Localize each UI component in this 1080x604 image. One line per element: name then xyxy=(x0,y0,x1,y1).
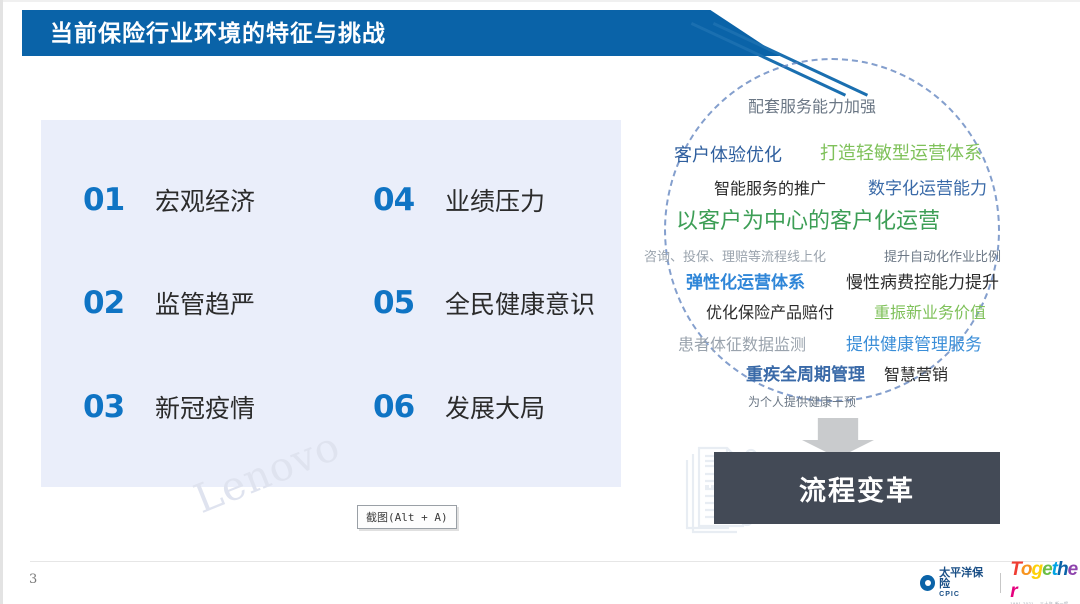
challenge-item-06: 06发展大局 xyxy=(331,355,621,459)
word-cloud-term: 提升自动化作业比例 xyxy=(884,250,1001,263)
slide-left-edge xyxy=(0,0,3,604)
challenge-label: 宏观经济 xyxy=(155,182,255,218)
slide-header: 当前保险行业环境的特征与挑战 xyxy=(0,10,1080,58)
challenge-number: 06 xyxy=(373,389,431,425)
challenge-item-04: 04业绩压力 xyxy=(331,148,621,252)
challenge-number: 04 xyxy=(373,182,431,218)
word-cloud-term: 智慧营销 xyxy=(884,368,948,384)
cpic-logo: 太平洋保险 CPIC xyxy=(920,568,991,598)
challenge-number: 03 xyxy=(83,389,141,425)
cpic-brand-en: CPIC xyxy=(939,591,991,598)
challenge-label: 监管趋严 xyxy=(155,285,255,321)
word-cloud-term: 提供健康管理服务 xyxy=(846,336,982,353)
challenge-item-02: 02监管趋严 xyxy=(41,252,331,356)
word-cloud-term: 以客户为中心的客户化运营 xyxy=(676,210,940,232)
word-cloud: 配套服务能力加强客户体验优化打造轻敏型运营体系智能服务的推广数字化运营能力以客户… xyxy=(636,58,1056,410)
footer-divider xyxy=(30,561,1060,562)
challenge-label: 全民健康意识 xyxy=(445,285,595,321)
challenge-item-01: 01宏观经济 xyxy=(41,148,331,252)
word-cloud-term: 数字化运营能力 xyxy=(868,180,987,197)
word-cloud-term: 打造轻敏型运营体系 xyxy=(820,144,982,162)
challenge-label: 发展大局 xyxy=(445,389,545,425)
word-cloud-term: 优化保险产品赔付 xyxy=(706,306,834,322)
cpic-brand-cn: 太平洋保险 xyxy=(939,568,991,591)
challenge-number: 01 xyxy=(83,182,141,218)
word-cloud-term: 客户体验优化 xyxy=(674,146,782,164)
page-title: 当前保险行业环境的特征与挑战 xyxy=(50,10,386,56)
word-cloud-term: 患者体征数据监测 xyxy=(678,338,806,354)
challenge-label: 业绩压力 xyxy=(445,182,545,218)
word-cloud-term: 配套服务能力加强 xyxy=(748,100,876,116)
word-cloud-term: 慢性病费控能力提升 xyxy=(846,274,999,291)
word-cloud-term: 智能服务的推广 xyxy=(714,182,826,198)
slide: 当前保险行业环境的特征与挑战 01宏观经济04业绩压力02监管趋严05全民健康意… xyxy=(0,0,1080,604)
banner-label: 流程变革 xyxy=(714,452,1000,524)
challenge-number: 05 xyxy=(373,285,431,321)
challenges-panel: 01宏观经济04业绩压力02监管趋严05全民健康意识03新冠疫情06发展大局 L… xyxy=(41,120,621,487)
word-cloud-term: 咨询、投保、理赔等流程线上化 xyxy=(644,250,826,263)
slide-top-edge xyxy=(0,0,1080,2)
screenshot-shortcut-tooltip[interactable]: 截图(Alt + A) xyxy=(357,505,457,529)
challenge-label: 新冠疫情 xyxy=(155,389,255,425)
word-cloud-term: 为个人提供健康干预 xyxy=(748,396,856,408)
challenge-item-05: 05全民健康意识 xyxy=(331,252,621,356)
word-cloud-term: 弹性化运营体系 xyxy=(686,274,805,291)
cpic-mark-icon xyxy=(920,575,935,591)
together-wordmark: Together xyxy=(1010,559,1080,603)
logo-separator xyxy=(1000,573,1001,593)
header-wedge xyxy=(660,10,780,56)
together-logo: Together 1991-2021 三十年 新一程 xyxy=(1010,559,1080,604)
challenge-item-03: 03新冠疫情 xyxy=(41,355,331,459)
process-reform-banner: 流程变革 xyxy=(714,452,1000,524)
header-bar: 当前保险行业环境的特征与挑战 xyxy=(22,10,662,56)
word-cloud-term: 重疾全周期管理 xyxy=(746,366,865,383)
word-cloud-term: 重振新业务价值 xyxy=(874,306,986,322)
challenge-number: 02 xyxy=(83,285,141,321)
page-number: 3 xyxy=(29,572,37,587)
challenges-grid: 01宏观经济04业绩压力02监管趋严05全民健康意识03新冠疫情06发展大局 xyxy=(41,120,621,487)
footer-logos: 太平洋保险 CPIC Together 1991-2021 三十年 新一程 xyxy=(920,566,1080,600)
